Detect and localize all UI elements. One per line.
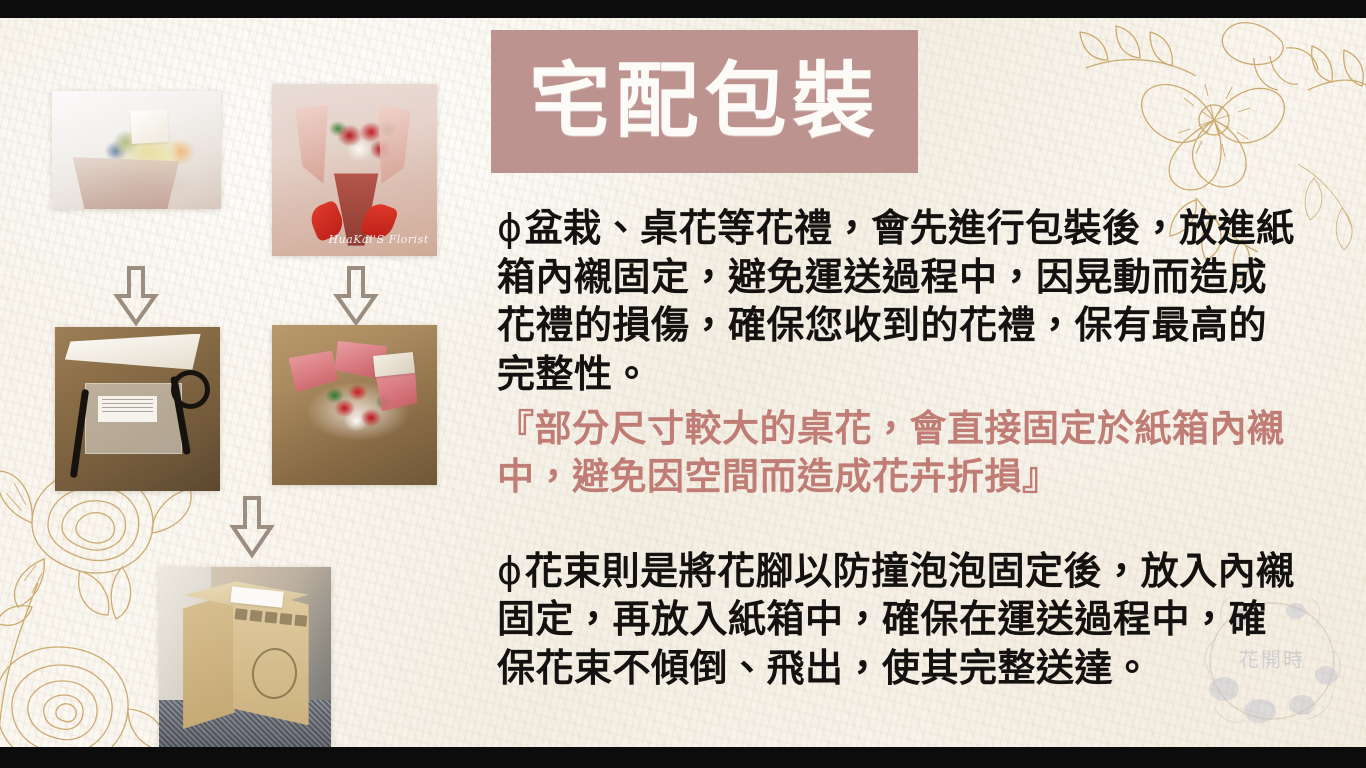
photo-sealed-shipping-carton — [159, 567, 331, 747]
photo-potted-arrangement-wrapped — [52, 91, 221, 209]
photo-bouquet-inside-carton — [272, 325, 437, 485]
arrow-to-sealed-carton — [229, 496, 275, 558]
photo-detail-gift-tag — [373, 352, 415, 377]
photo-detail-wrap-right — [378, 105, 411, 184]
paragraph-potted-flowers-text: 盆栽、桌花等花禮，會先進行包裝後，放進紙箱內襯固定，避免運送過程中，因晃動而造成… — [497, 206, 1295, 396]
paragraph-potted-flowers: ϕ盆栽、桌花等花禮，會先進行包裝後，放進紙箱內襯固定，避免運送過程中，因晃動而造… — [497, 204, 1297, 399]
title-banner: 宅配包裝 — [491, 30, 918, 173]
bullet-symbol-2: ϕ — [497, 549, 525, 593]
paragraph-bouquet: ϕ花束則是將花腳以防撞泡泡固定後，放入內襯固定，再放入紙箱中，確保在運送過程中，… — [497, 547, 1297, 693]
arrow-pot-to-box — [113, 266, 159, 326]
quote-large-table-flowers: 『部分尺寸較大的桌花，會直接固定於紙箱內襯中，避免因空間而造成花卉折損』 — [497, 405, 1297, 501]
photo-detail-strap-loop — [171, 370, 211, 410]
slide-canvas: HuaKai'S Florist — [0, 0, 1366, 768]
bullet-symbol-1: ϕ — [497, 206, 525, 250]
photo-red-white-bouquet: HuaKai'S Florist — [272, 84, 437, 256]
arrow-bouquet-to-box — [333, 266, 379, 326]
letterbox-bar-top — [0, 0, 1366, 18]
photo-detail-carton-left-face — [183, 592, 235, 729]
photo-detail-wrap-left — [295, 105, 328, 184]
photo-detail-message-card — [131, 109, 170, 144]
body-copy: ϕ盆栽、桌花等花禮，會先進行包裝後，放進紙箱內襯固定，避免運送過程中，因晃動而造… — [497, 204, 1297, 693]
photo-carton-with-documents — [55, 327, 220, 491]
photo-detail-wrapping-paper — [66, 157, 184, 209]
photo-watermark-florist: HuaKai'S Florist — [329, 234, 429, 246]
photo-detail-care-label — [98, 396, 157, 422]
paragraph-bouquet-text: 花束則是將花腳以防撞泡泡固定後，放入內襯固定，再放入紙箱中，確保在運送過程中，確… — [497, 549, 1295, 690]
page-title: 宅配包裝 — [528, 61, 880, 143]
photo-detail-document-sheet — [65, 334, 204, 370]
photo-detail-tissue-a — [289, 351, 339, 393]
letterbox-bar-bottom — [0, 747, 1366, 768]
slide-content-area: HuaKai'S Florist — [0, 18, 1366, 747]
